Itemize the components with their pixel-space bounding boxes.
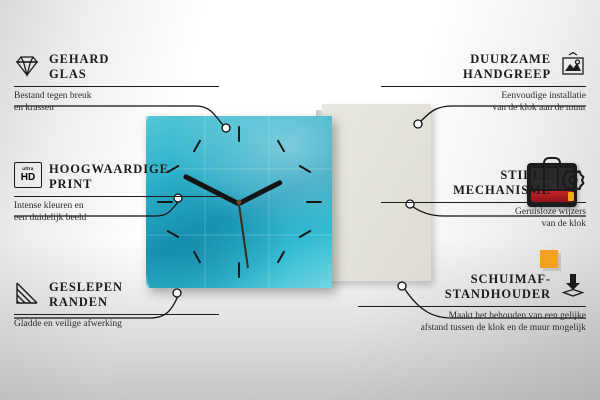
feature-gehard-glas: GEHARD GLAS Bestand tegen breuken krasse… [14, 52, 219, 114]
feature-description: Eenvoudige installatievan de klok aan de… [381, 91, 586, 114]
feature-duurzame-handgreep: DUURZAME HANDGREEP Eenvoudige installati… [381, 52, 586, 114]
tick-7 [193, 250, 202, 263]
tick-6 [238, 262, 240, 278]
feature-description: Gladde en veilige afwerking [14, 319, 219, 331]
gear-icon [560, 168, 586, 194]
feature-title-line1: HOOGWAARDIGE [49, 162, 169, 177]
feature-schuimafstandhouder: SCHUIMAF- STANDHOUDER Maakt het behouden… [358, 272, 586, 334]
feature-title-line1: GESLEPEN [49, 280, 123, 295]
feature-title-line1: STILLE [500, 168, 551, 183]
feature-title-line2: PRINT [49, 177, 169, 192]
divider [358, 306, 586, 307]
feature-description: Maakt het behouden van een gelijkeafstan… [358, 311, 586, 334]
feature-description: Intense kleuren eneen duidelijk beeld [14, 201, 219, 224]
hour-hand [238, 179, 283, 205]
divider [14, 196, 219, 197]
feature-stille-mechanisme: STILLE MECHANISME Geruisloze wijzersvan … [381, 168, 586, 230]
clock-hub [237, 200, 242, 205]
bevelled-edge-icon [14, 280, 40, 306]
tick-5 [277, 250, 286, 263]
tick-11 [193, 139, 202, 152]
ultra-hd-icon: ultraHD [14, 162, 40, 188]
tick-1 [277, 139, 286, 152]
feature-hoogwaardige-print: ultraHD HOOGWAARDIGE PRINT Intense kleur… [14, 162, 219, 224]
infographic-canvas: GEHARD GLAS Bestand tegen breuken krasse… [0, 0, 600, 400]
divider [14, 314, 219, 315]
feature-title-line2: MECHANISME [453, 183, 551, 198]
foam-spacer [540, 250, 558, 268]
feature-title-line1: SCHUIMAF- [471, 272, 551, 287]
feature-title-line1: DUURZAME [470, 52, 551, 67]
feature-title-line2: HANDGREEP [463, 67, 551, 82]
picture-hanger-icon [560, 52, 586, 78]
hanger-loop-icon [543, 157, 561, 167]
feature-title-line1: GEHARD [49, 52, 109, 67]
divider [381, 202, 586, 203]
feature-geslepen-randen: GESLEPEN RANDEN Gladde en veilige afwerk… [14, 280, 219, 331]
foam-spacer-icon [560, 272, 586, 298]
feature-description: Geruisloze wijzersvan de klok [381, 207, 586, 230]
tick-3 [306, 201, 322, 203]
tick-12 [238, 126, 240, 142]
feature-description: Bestand tegen breuken krassen [14, 91, 219, 114]
diamond-icon [14, 52, 40, 78]
feature-title-line2: STANDHOUDER [445, 287, 551, 302]
feature-title-line2: GLAS [49, 67, 109, 82]
divider [381, 86, 586, 87]
feature-title-line2: RANDEN [49, 295, 123, 310]
divider [14, 86, 219, 87]
